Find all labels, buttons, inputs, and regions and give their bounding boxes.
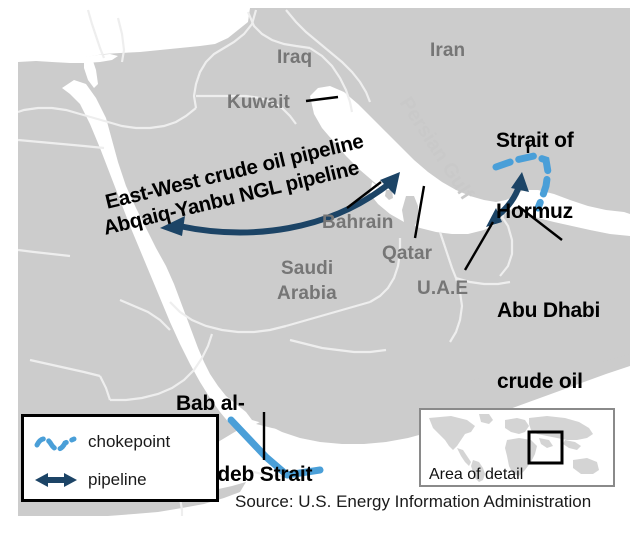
pipeline-icon bbox=[24, 470, 88, 490]
legend-row-pipeline: pipeline bbox=[24, 461, 216, 499]
legend-label-pipeline: pipeline bbox=[88, 470, 147, 490]
inset-label: Area of detail bbox=[429, 466, 523, 484]
legend-row-chokepoint: chokepoint bbox=[24, 423, 216, 461]
source-attribution: Source: U.S. Energy Information Administ… bbox=[235, 492, 591, 512]
map-screenshot: Iraq Iran Kuwait Bahrain Qatar U.A.E Sau… bbox=[0, 0, 630, 537]
locator-inset: Area of detail bbox=[419, 408, 615, 487]
chokepoint-icon bbox=[24, 432, 88, 452]
legend-label-chokepoint: chokepoint bbox=[88, 432, 170, 452]
map-legend: chokepoint pipeline bbox=[21, 414, 219, 502]
